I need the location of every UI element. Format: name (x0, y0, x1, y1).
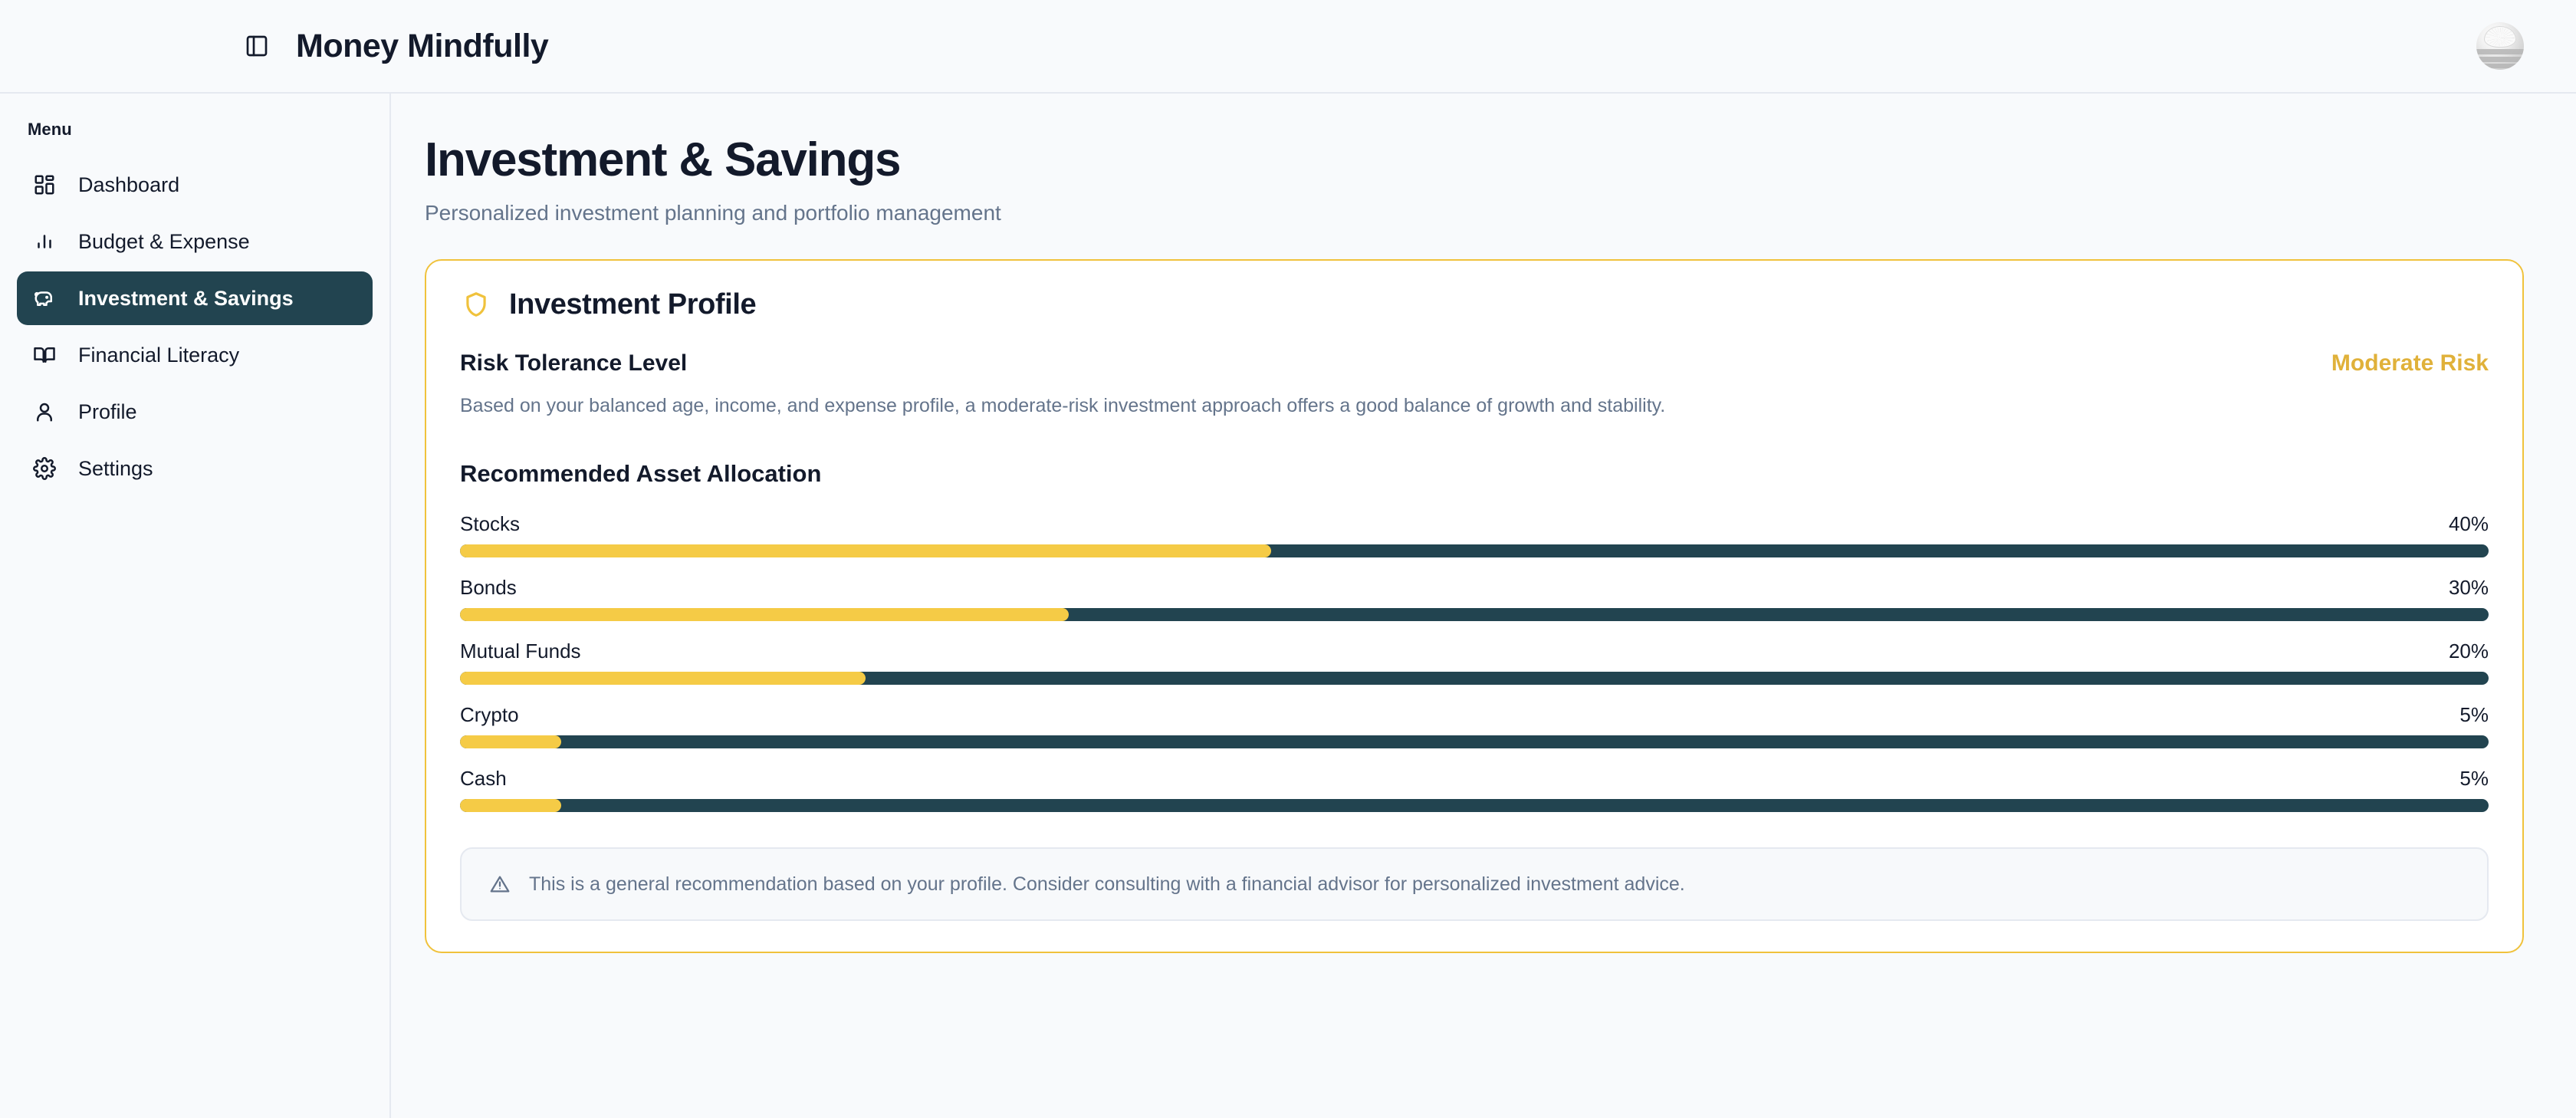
allocation-progress-fill (460, 544, 1271, 557)
user-icon (31, 398, 58, 426)
allocation-name: Mutual Funds (460, 640, 581, 663)
list-item: Crypto 5% (460, 703, 2489, 748)
allocation-name: Crypto (460, 703, 519, 727)
sidebar-item-label: Settings (78, 457, 153, 481)
sidebar-item-label: Investment & Savings (78, 287, 294, 311)
bar-chart-icon (31, 228, 58, 255)
app-title: Money Mindfully (296, 30, 548, 63)
list-item: Cash 5% (460, 767, 2489, 812)
sidebar-nav: Dashboard Budget & Expense (17, 158, 373, 495)
avatar-dome (2484, 26, 2516, 48)
allocation-progress-track (460, 608, 2489, 621)
status-badge: Moderate Risk (2331, 350, 2489, 377)
allocation-percent: 30% (2449, 576, 2489, 600)
app-header: Money Mindfully (0, 0, 2576, 94)
allocation-row-header: Bonds 30% (460, 576, 2489, 600)
list-item: Stocks 40% (460, 512, 2489, 557)
list-item: Bonds 30% (460, 576, 2489, 621)
page-subtitle: Personalized investment planning and por… (425, 201, 2524, 225)
piggy-bank-icon (31, 284, 58, 312)
grid-icon (31, 171, 58, 199)
header-right-group (2476, 22, 2542, 70)
allocation-progress-fill (460, 608, 1069, 621)
sidebar: Menu Dashboard (0, 94, 391, 1118)
gear-icon (31, 455, 58, 482)
avatar-stripe (2476, 57, 2524, 62)
sidebar-section-label: Menu (17, 120, 373, 140)
allocation-name: Bonds (460, 576, 517, 600)
allocation-percent: 20% (2449, 640, 2489, 663)
allocation-row-header: Crypto 5% (460, 703, 2489, 727)
page-title: Investment & Savings (425, 135, 2524, 186)
allocation-section-title: Recommended Asset Allocation (460, 460, 2489, 488)
risk-tolerance-row: Risk Tolerance Level Moderate Risk (460, 350, 2489, 377)
allocation-progress-fill (460, 735, 561, 748)
disclaimer-text: This is a general recommendation based o… (529, 873, 1685, 896)
allocation-progress-fill (460, 799, 561, 812)
sidebar-item-profile[interactable]: Profile (17, 385, 373, 439)
allocation-progress-track (460, 544, 2489, 557)
allocation-progress-fill (460, 672, 866, 685)
allocation-progress-track (460, 799, 2489, 812)
main-content: Investment & Savings Personalized invest… (391, 94, 2576, 1118)
warning-triangle-icon (488, 872, 512, 896)
app-root: Money Mindfully Menu (0, 0, 2576, 1118)
allocation-row-header: Mutual Funds 20% (460, 640, 2489, 663)
sidebar-item-label: Dashboard (78, 173, 179, 197)
sidebar-item-label: Budget & Expense (78, 230, 250, 254)
card-title: Investment Profile (509, 288, 756, 321)
list-item: Mutual Funds 20% (460, 640, 2489, 685)
card-header: Investment Profile (460, 288, 2489, 321)
sidebar-item-settings[interactable]: Settings (17, 442, 373, 495)
risk-tolerance-label: Risk Tolerance Level (460, 350, 687, 377)
risk-tolerance-description: Based on your balanced age, income, and … (460, 393, 2489, 419)
investment-profile-card: Investment Profile Risk Tolerance Level … (425, 259, 2524, 954)
sidebar-item-dashboard[interactable]: Dashboard (17, 158, 373, 212)
shield-icon (460, 288, 492, 321)
sidebar-item-financial-literacy[interactable]: Financial Literacy (17, 328, 373, 382)
allocation-progress-track (460, 672, 2489, 685)
disclaimer-notice: This is a general recommendation based o… (460, 847, 2489, 921)
sidebar-item-label: Profile (78, 400, 137, 424)
header-left-group: Money Mindfully (0, 28, 548, 64)
avatar-stripe (2476, 64, 2524, 68)
book-open-icon (31, 341, 58, 369)
allocation-name: Stocks (460, 512, 520, 536)
allocation-list: Stocks 40% Bonds 30% (460, 512, 2489, 812)
allocation-row-header: Cash 5% (460, 767, 2489, 791)
allocation-percent: 40% (2449, 512, 2489, 536)
body-row: Menu Dashboard (0, 94, 2576, 1118)
allocation-percent: 5% (2459, 703, 2489, 727)
allocation-row-header: Stocks 40% (460, 512, 2489, 536)
allocation-progress-track (460, 735, 2489, 748)
sidebar-item-budget-expense[interactable]: Budget & Expense (17, 215, 373, 268)
allocation-percent: 5% (2459, 767, 2489, 791)
sidebar-item-investment-savings[interactable]: Investment & Savings (17, 271, 373, 325)
allocation-name: Cash (460, 767, 507, 791)
sidebar-toggle-icon[interactable] (239, 28, 274, 64)
avatar[interactable] (2476, 22, 2524, 70)
avatar-stripe (2476, 49, 2524, 54)
sidebar-item-label: Financial Literacy (78, 344, 239, 367)
